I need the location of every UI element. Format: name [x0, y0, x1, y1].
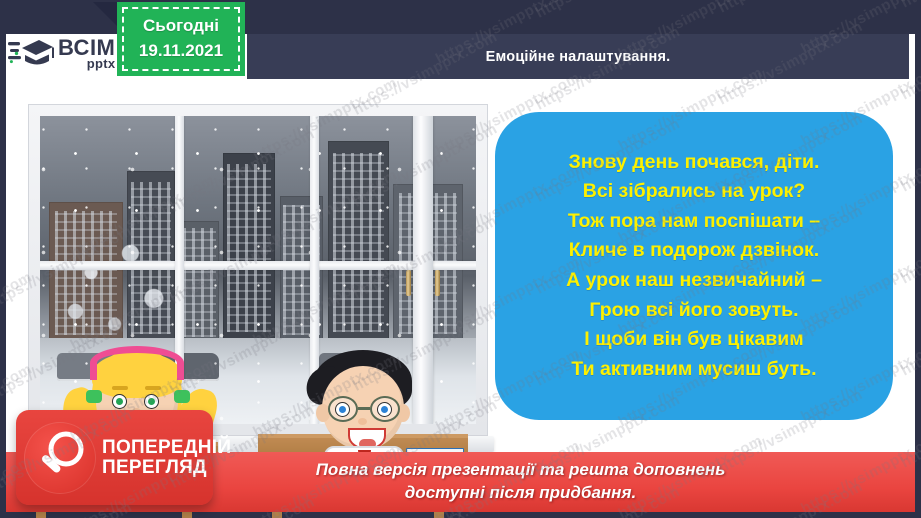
- slide-canvas: Знову день почався, діти. Всі зібрались …: [0, 0, 921, 518]
- pink-headband: [90, 346, 184, 380]
- poem-line: Грою всі його зовуть.: [589, 296, 798, 326]
- eyebrow: [112, 386, 128, 390]
- poem-card: Знову день почався, діти. Всі зібрались …: [495, 112, 893, 420]
- poem-line: Тож пора нам поспішати –: [568, 207, 820, 237]
- nose: [358, 418, 367, 425]
- hair-band: [86, 390, 102, 403]
- poem-line: Знову день почався, діти.: [569, 148, 820, 178]
- hair-band: [174, 390, 190, 403]
- eye: [112, 394, 127, 409]
- window-handle-icon[interactable]: [406, 270, 411, 296]
- date-badge-value: 19.11.2021: [139, 39, 223, 64]
- poem-line: Кличе в подорож дзвінок.: [569, 236, 819, 266]
- window-mullion: [40, 261, 476, 270]
- magnifier-icon: [24, 422, 96, 494]
- eye: [377, 402, 392, 417]
- date-badge-label: Сьогодні: [143, 14, 219, 39]
- page-title: Емоційне налаштування.: [486, 49, 671, 65]
- preview-button-label: ПОПЕРЕДНІЙ ПЕРЕГЛЯД: [102, 438, 231, 478]
- banner-line-1: Повна версія презентації та решта доповн…: [316, 459, 726, 482]
- preview-label-line-1: ПОПЕРЕДНІЙ: [102, 437, 231, 458]
- eyebrow: [145, 386, 161, 390]
- poem-line: Всі зібрались на урок?: [583, 177, 805, 207]
- preview-button[interactable]: ПОПЕРЕДНІЙ ПЕРЕГЛЯД: [16, 410, 213, 505]
- banner-line-2: доступні після придбання.: [316, 482, 726, 505]
- eye: [335, 402, 350, 417]
- preview-label-line-2: ПЕРЕГЛЯД: [102, 457, 207, 478]
- slide-title-bar: Емоційне налаштування.: [247, 34, 909, 79]
- brand-logo[interactable]: ВСІМ pptx: [8, 30, 128, 78]
- logo-wordmark: ВСІМ pptx: [58, 38, 115, 70]
- logo-brand-suffix: pptx: [58, 58, 115, 70]
- window-handle-icon[interactable]: [435, 270, 440, 296]
- eye: [144, 394, 159, 409]
- poem-line: Ти активним мусиш буть.: [571, 355, 816, 385]
- poem-line: А урок наш незвичайний –: [566, 266, 822, 296]
- graduation-cap-icon: [8, 34, 54, 74]
- today-date-badge: Сьогодні 19.11.2021: [117, 2, 245, 76]
- logo-brand-name: ВСІМ: [58, 38, 115, 58]
- poem-line: І щоби він був цікавим: [584, 325, 803, 355]
